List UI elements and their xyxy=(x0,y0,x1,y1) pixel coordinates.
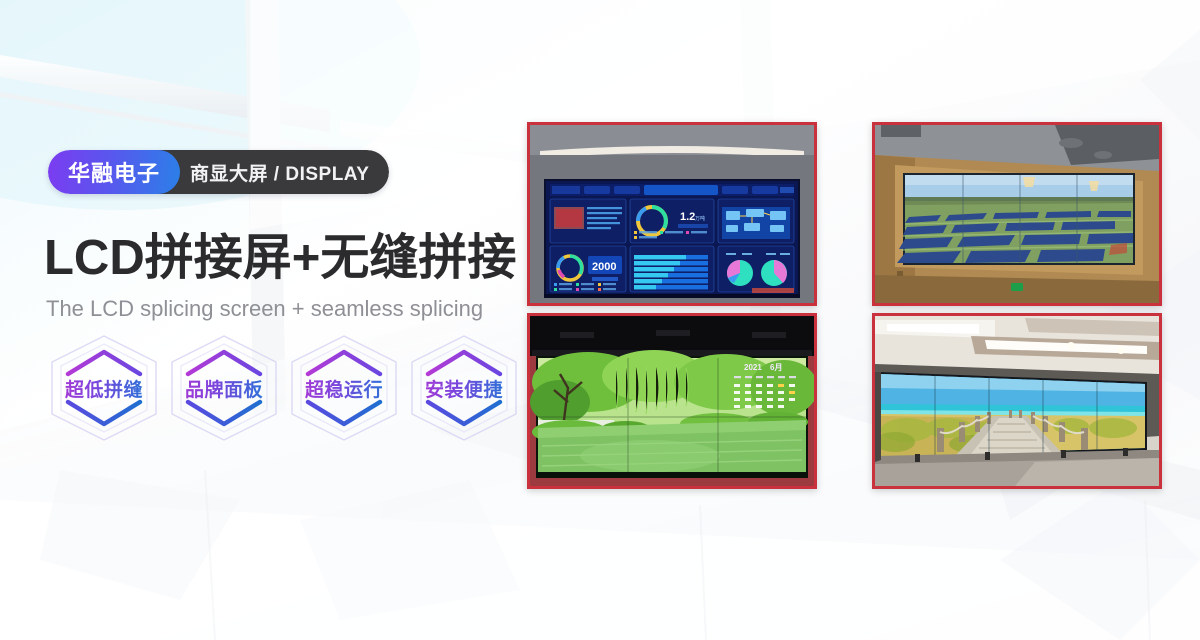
feature-hexagon-4: 安装便捷 xyxy=(406,332,522,444)
svg-text:2021: 2021 xyxy=(744,363,762,372)
feature-label: 安装便捷 xyxy=(425,375,503,402)
promo-banner: 华融电子 商显大屏 / DISPLAY LCD拼接屏+无缝拼接 The LCD … xyxy=(0,0,1200,640)
feature-hexagon-3: 超稳运行 xyxy=(286,332,402,444)
category-chip: 商显大屏 / DISPLAY xyxy=(156,150,389,194)
svg-text:6月: 6月 xyxy=(770,363,782,372)
feature-label: 品牌面板 xyxy=(185,375,263,402)
svg-text:万吨: 万吨 xyxy=(695,215,705,222)
feature-hexagon-2: 品牌面板 xyxy=(166,332,282,444)
feature-label: 超低拼缝 xyxy=(65,375,143,402)
product-photo-willow-lake: 2021 6月 xyxy=(527,313,817,489)
product-photo-solar-farm xyxy=(872,122,1162,306)
feature-label: 超稳运行 xyxy=(305,375,383,402)
svg-text:1.2: 1.2 xyxy=(680,211,695,223)
brand-badge: 华融电子 商显大屏 / DISPLAY xyxy=(48,150,389,194)
product-photo-dashboard: 1.2 万吨 2000 xyxy=(527,122,817,306)
subheadline: The LCD splicing screen + seamless splic… xyxy=(46,298,483,320)
hero-text-column: 华融电子 商显大屏 / DISPLAY LCD拼接屏+无缝拼接 The LCD … xyxy=(0,0,520,640)
brand-name-chip: 华融电子 xyxy=(48,150,180,194)
product-photo-beach-boardwalk xyxy=(872,313,1162,489)
feature-hexagon-1: 超低拼缝 xyxy=(46,332,162,444)
svg-text:2000: 2000 xyxy=(592,261,616,273)
feature-hexagon-row: 超低拼缝 品牌面板 xyxy=(46,332,522,444)
headline: LCD拼接屏+无缝拼接 xyxy=(44,234,516,283)
